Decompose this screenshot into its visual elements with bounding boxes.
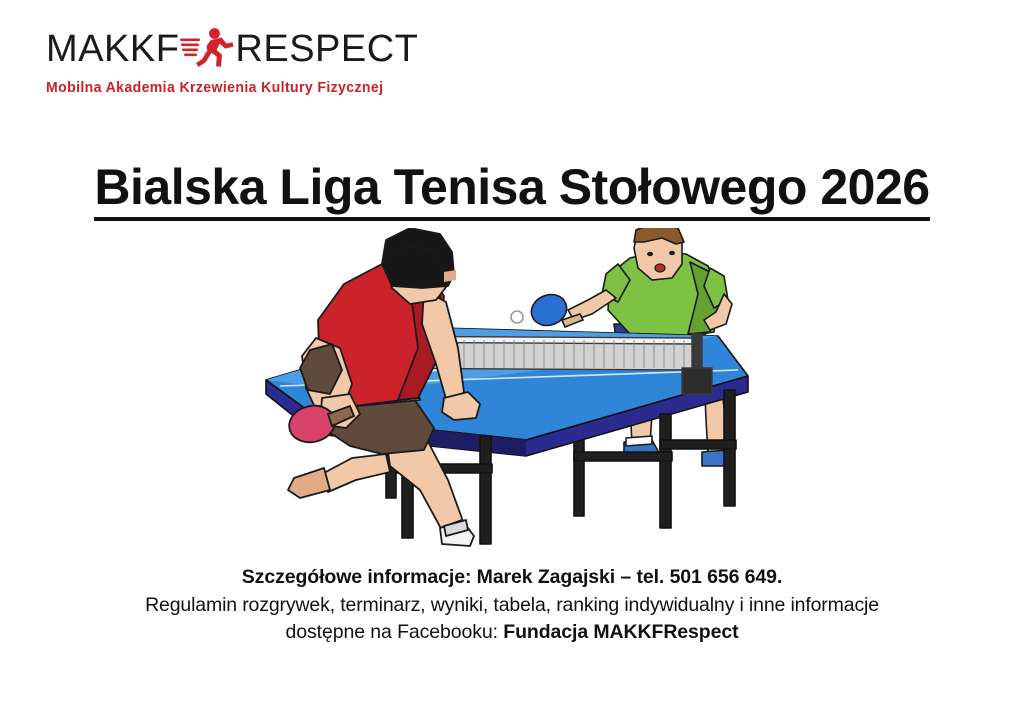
front-player-red: [288, 228, 480, 546]
footer-facebook-line: dostępne na Facebooku: Fundacja MAKKFRes…: [0, 619, 1024, 647]
brand-logo: MAKKF RESPECT Mobilna Akademia Krzewieni…: [46, 26, 466, 106]
logo-wordmark: MAKKF RESPECT: [46, 26, 466, 72]
page-title: Bialska Liga Tenisa Stołowego 2026: [0, 160, 1024, 221]
logo-word-respect: RESPECT: [235, 30, 418, 68]
footer-facebook-prefix: dostępne na Facebooku:: [286, 621, 504, 643]
poster-page: MAKKF RESPECT Mobilna Akademia Krzewieni…: [0, 0, 1024, 725]
footer-info: Szczegółowe informacje: Marek Zagajski –…: [0, 564, 1024, 647]
page-title-text: Bialska Liga Tenisa Stołowego 2026: [94, 160, 929, 221]
footer-facebook-page-name: Fundacja MAKKFRespect: [503, 621, 738, 643]
ping-pong-ball: [511, 311, 523, 323]
running-figure-icon: [180, 26, 234, 72]
footer-contact-line: Szczegółowe informacje: Marek Zagajski –…: [0, 564, 1024, 592]
logo-tagline: Mobilna Akademia Krzewienia Kultury Fizy…: [46, 80, 453, 96]
footer-details-line: Regulamin rozgrywek, terminarz, wyniki, …: [0, 592, 1024, 620]
table-tennis-illustration: [258, 228, 758, 558]
illustration-container: [258, 228, 758, 558]
logo-word-makkf: MAKKF: [46, 30, 179, 68]
